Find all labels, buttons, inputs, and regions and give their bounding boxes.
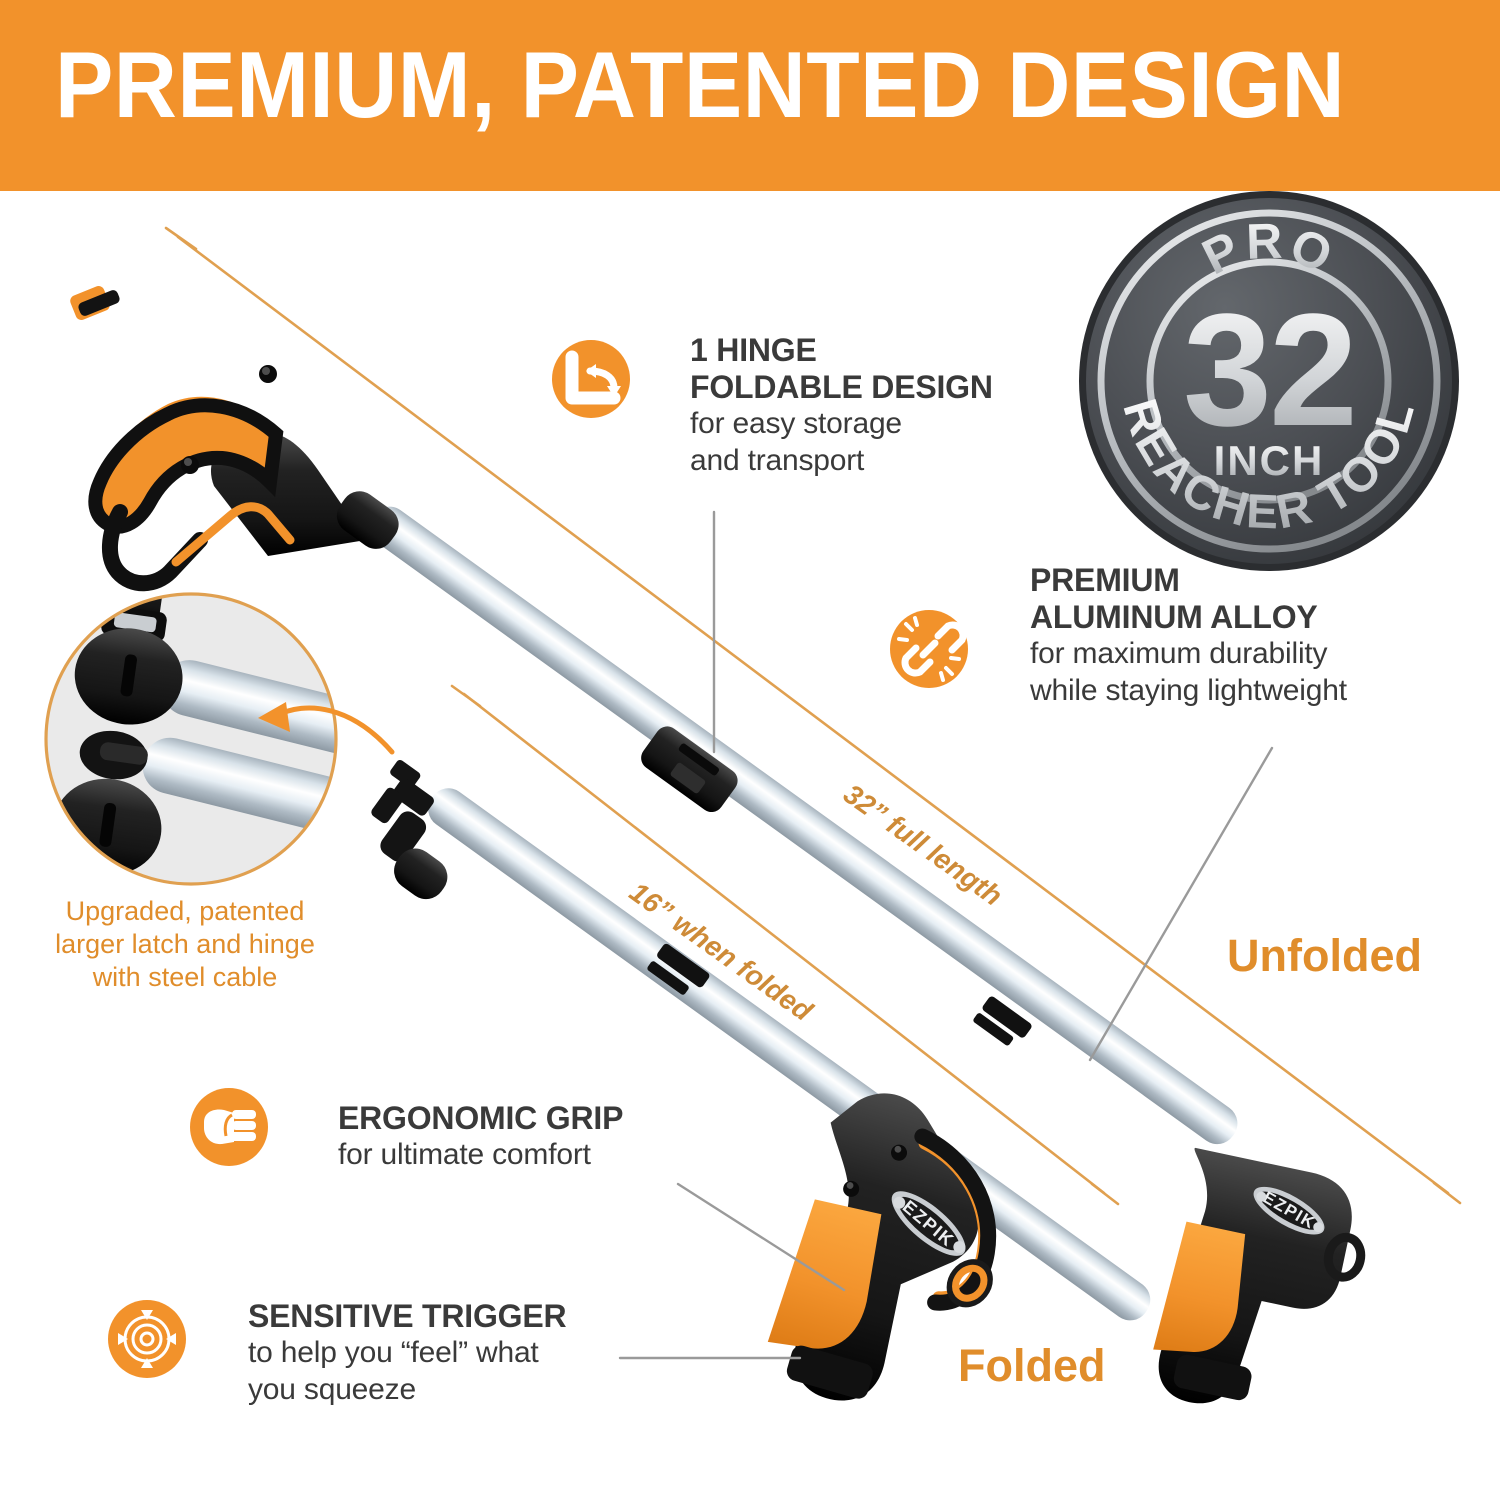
badge-inch: INCH [1214, 437, 1325, 484]
handle-unfolded: EZPIK [1143, 1148, 1376, 1431]
brand-text-unfolded: EZPIK [1260, 1188, 1319, 1233]
badge-arc-text: REACHER TOOL [1112, 393, 1425, 539]
callout-text-block: PREMIUM ALUMINUM ALLOY for maximum durab… [1030, 562, 1347, 709]
callout-text-block: ERGONOMIC GRIP for ultimate comfort [338, 1100, 623, 1174]
gripper-jaw-unfolded [68, 284, 405, 583]
svg-text:PRO: PRO [1194, 213, 1344, 286]
product-illustration: EZPIK [0, 0, 1500, 1488]
callout-title: ERGONOMIC GRIP [338, 1100, 623, 1137]
badge-medallion: PRO 32 INCH REACHER TOOL [1079, 191, 1459, 571]
callout-text-block: SENSITIVE TRIGGER to help you “feel” wha… [248, 1298, 566, 1408]
detail-magnifier-caption: Upgraded, patented larger latch and hing… [20, 895, 350, 994]
detail-arrow [276, 708, 392, 752]
callout-subtitle: for easy storage and transport [690, 406, 993, 479]
callout-text-block: 1 HINGE FOLDABLE DESIGN for easy storage… [690, 332, 993, 479]
folded-hinge-head [340, 758, 491, 906]
latch-detail-magnifier [43, 546, 490, 910]
icon-target-sensitivity [108, 1300, 186, 1378]
badge-number: 32 [1183, 280, 1355, 459]
badge-pro-text: PRO [1194, 213, 1344, 286]
callout-subtitle: for ultimate comfort [338, 1137, 623, 1174]
callout-title: SENSITIVE TRIGGER [248, 1298, 566, 1335]
label-unfolded: Unfolded [1227, 930, 1422, 982]
callout-subtitle: for maximum durability while staying lig… [1030, 636, 1347, 709]
dimension-label-full-length: 32” full length [837, 778, 1008, 912]
callout-title: PREMIUM ALUMINUM ALLOY [1030, 562, 1347, 636]
brand-text-folded: EZPIK [899, 1196, 959, 1251]
callout-title: 1 HINGE FOLDABLE DESIGN [690, 332, 993, 406]
page-title: PREMIUM, PATENTED DESIGN [55, 38, 1345, 132]
icon-fist-grip [190, 1088, 268, 1166]
icon-chain-link [890, 610, 968, 688]
header-banner: PREMIUM, PATENTED DESIGN [0, 0, 1500, 191]
dimension-label-folded-length: 16” when folded [623, 876, 818, 1028]
icon-fold-corner [552, 340, 630, 418]
label-folded: Folded [958, 1340, 1105, 1392]
svg-text:REACHER TOOL: REACHER TOOL [1112, 393, 1425, 539]
callout-subtitle: to help you “feel” what you squeeze [248, 1335, 566, 1408]
